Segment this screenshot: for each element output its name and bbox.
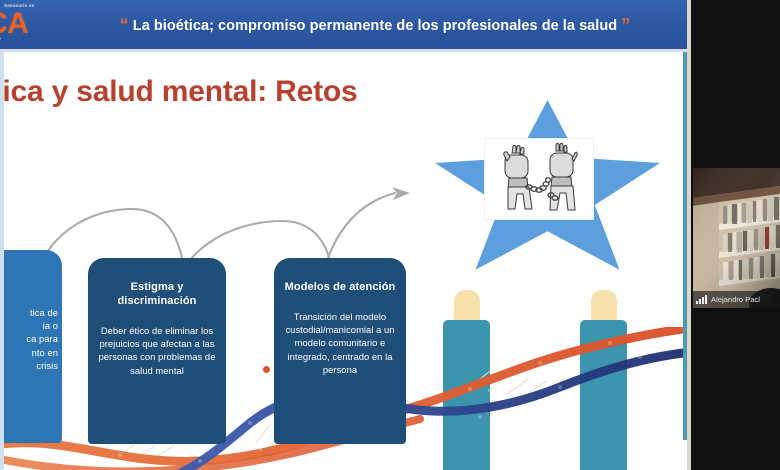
participant-video-tile[interactable]: Alejandro Pacl	[693, 168, 780, 308]
slide-left-edge-strip	[0, 52, 4, 470]
card-title: Modelos de atención	[284, 280, 396, 294]
card-text: tica de ia o ca para nto en crisis	[0, 306, 60, 372]
slide-header-quote-text: La bioética; compromiso permanente de lo…	[133, 18, 617, 34]
shared-screen-stage[interactable]: Seminario en CA dad" “ La bioética; comp…	[0, 0, 687, 470]
rail-divider	[687, 0, 691, 470]
seminar-logo: Seminario en CA dad"	[0, 4, 68, 52]
slide-card-estigma-y-discriminacion[interactable]: Estigma y discriminación Deber ético de …	[88, 258, 226, 444]
meeting-window: Seminario en CA dad" “ La bioética; comp…	[0, 0, 780, 470]
slide-body: oética y salud mental: Retos	[0, 52, 687, 470]
slide-card-1[interactable]: tica de ia o ca para nto en crisis	[0, 250, 62, 443]
participant-rail[interactable]: Alejandro Pacl	[687, 0, 780, 470]
card-text: Deber ético de eliminar los prejuicios q…	[98, 324, 216, 377]
participant-webcam-feed	[693, 168, 780, 308]
card-marker-dot	[263, 366, 270, 373]
slide-header-band: Seminario en CA dad" “ La bioética; comp…	[0, 0, 687, 52]
slide-header-quote: “ La bioética; compromiso permanente de …	[95, 15, 655, 36]
quote-close-mark: ”	[621, 15, 630, 35]
card-title: Estigma y discriminación	[98, 280, 216, 308]
signal-bars-icon	[696, 295, 708, 304]
slide-title: oética y salud mental: Retos	[0, 75, 358, 109]
slide-card-modelos-de-atencion[interactable]: Modelos de atención Transición del model…	[274, 258, 406, 444]
logo-main-text: CA	[0, 9, 68, 39]
quote-open-mark: “	[120, 15, 129, 35]
card-text: Transición del modelo custodial/manicomi…	[284, 310, 396, 376]
